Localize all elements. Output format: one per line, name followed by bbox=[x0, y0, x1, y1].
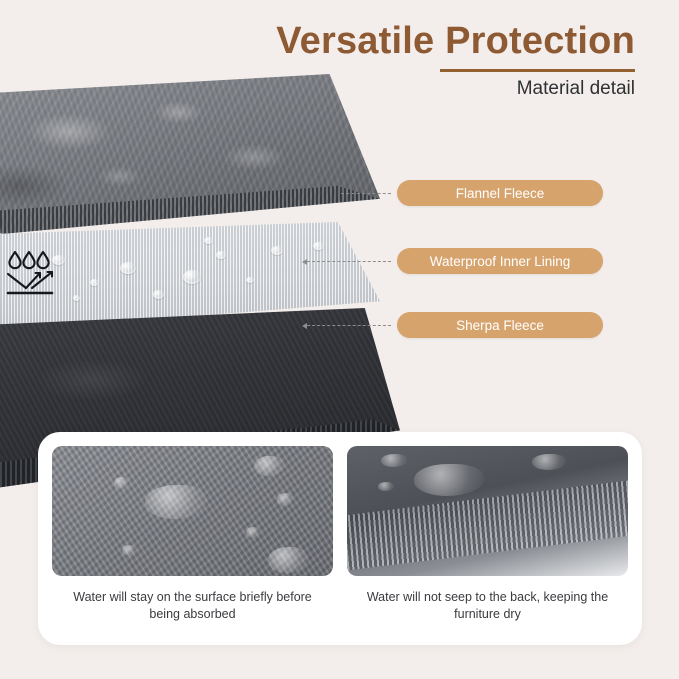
callout-flannel-fleece: Flannel Fleece bbox=[341, 180, 603, 206]
water-droplet bbox=[246, 277, 254, 283]
material-layer-stack bbox=[0, 72, 420, 422]
callout-sherpa-fleece: Sherpa Fleece bbox=[307, 312, 603, 338]
water-droplet bbox=[73, 295, 80, 301]
demo-panel-backing: Water will not seep to the back, keeping… bbox=[347, 446, 628, 645]
water-droplet bbox=[271, 246, 283, 255]
fleece-surface-water-beads-photo bbox=[52, 446, 333, 576]
demo-card: Water will stay on the surface briefly b… bbox=[38, 432, 642, 645]
panel-caption: Water will stay on the surface briefly b… bbox=[68, 589, 318, 623]
water-blob bbox=[246, 527, 259, 538]
connector-line bbox=[341, 193, 391, 194]
water-blob bbox=[277, 493, 293, 506]
water-blob bbox=[122, 545, 135, 556]
waterproof-icon bbox=[6, 248, 64, 300]
infographic-page: Versatile Protection Material detail bbox=[0, 0, 679, 679]
title-divider bbox=[440, 69, 635, 72]
water-blob bbox=[145, 485, 207, 519]
sherpa-back-dry-photo bbox=[347, 446, 628, 576]
page-title: Versatile Protection bbox=[215, 22, 635, 62]
label-waterproof-inner-lining[interactable]: Waterproof Inner Lining bbox=[397, 248, 603, 274]
water-blob bbox=[254, 456, 284, 476]
water-blob bbox=[532, 454, 566, 470]
water-blob bbox=[114, 477, 128, 489]
water-droplet bbox=[90, 279, 99, 286]
water-blob bbox=[268, 547, 308, 573]
label-sherpa-fleece[interactable]: Sherpa Fleece bbox=[397, 312, 603, 338]
connector-line bbox=[307, 261, 391, 262]
water-droplet bbox=[216, 251, 226, 259]
panel-caption: Water will not seep to the back, keeping… bbox=[363, 589, 613, 623]
callout-waterproof-inner-lining: Waterproof Inner Lining bbox=[307, 248, 603, 274]
label-flannel-fleece[interactable]: Flannel Fleece bbox=[397, 180, 603, 206]
water-droplet bbox=[120, 262, 136, 274]
water-blob bbox=[414, 464, 484, 496]
water-blob bbox=[378, 482, 394, 491]
connector-arrow-icon bbox=[302, 323, 307, 329]
demo-panel-surface: Water will stay on the surface briefly b… bbox=[52, 446, 333, 645]
connector-line bbox=[307, 325, 391, 326]
water-droplet bbox=[183, 270, 201, 284]
water-blob bbox=[381, 454, 407, 467]
water-droplet bbox=[204, 237, 213, 244]
connector-arrow-icon bbox=[302, 259, 307, 265]
water-droplet bbox=[153, 290, 164, 299]
